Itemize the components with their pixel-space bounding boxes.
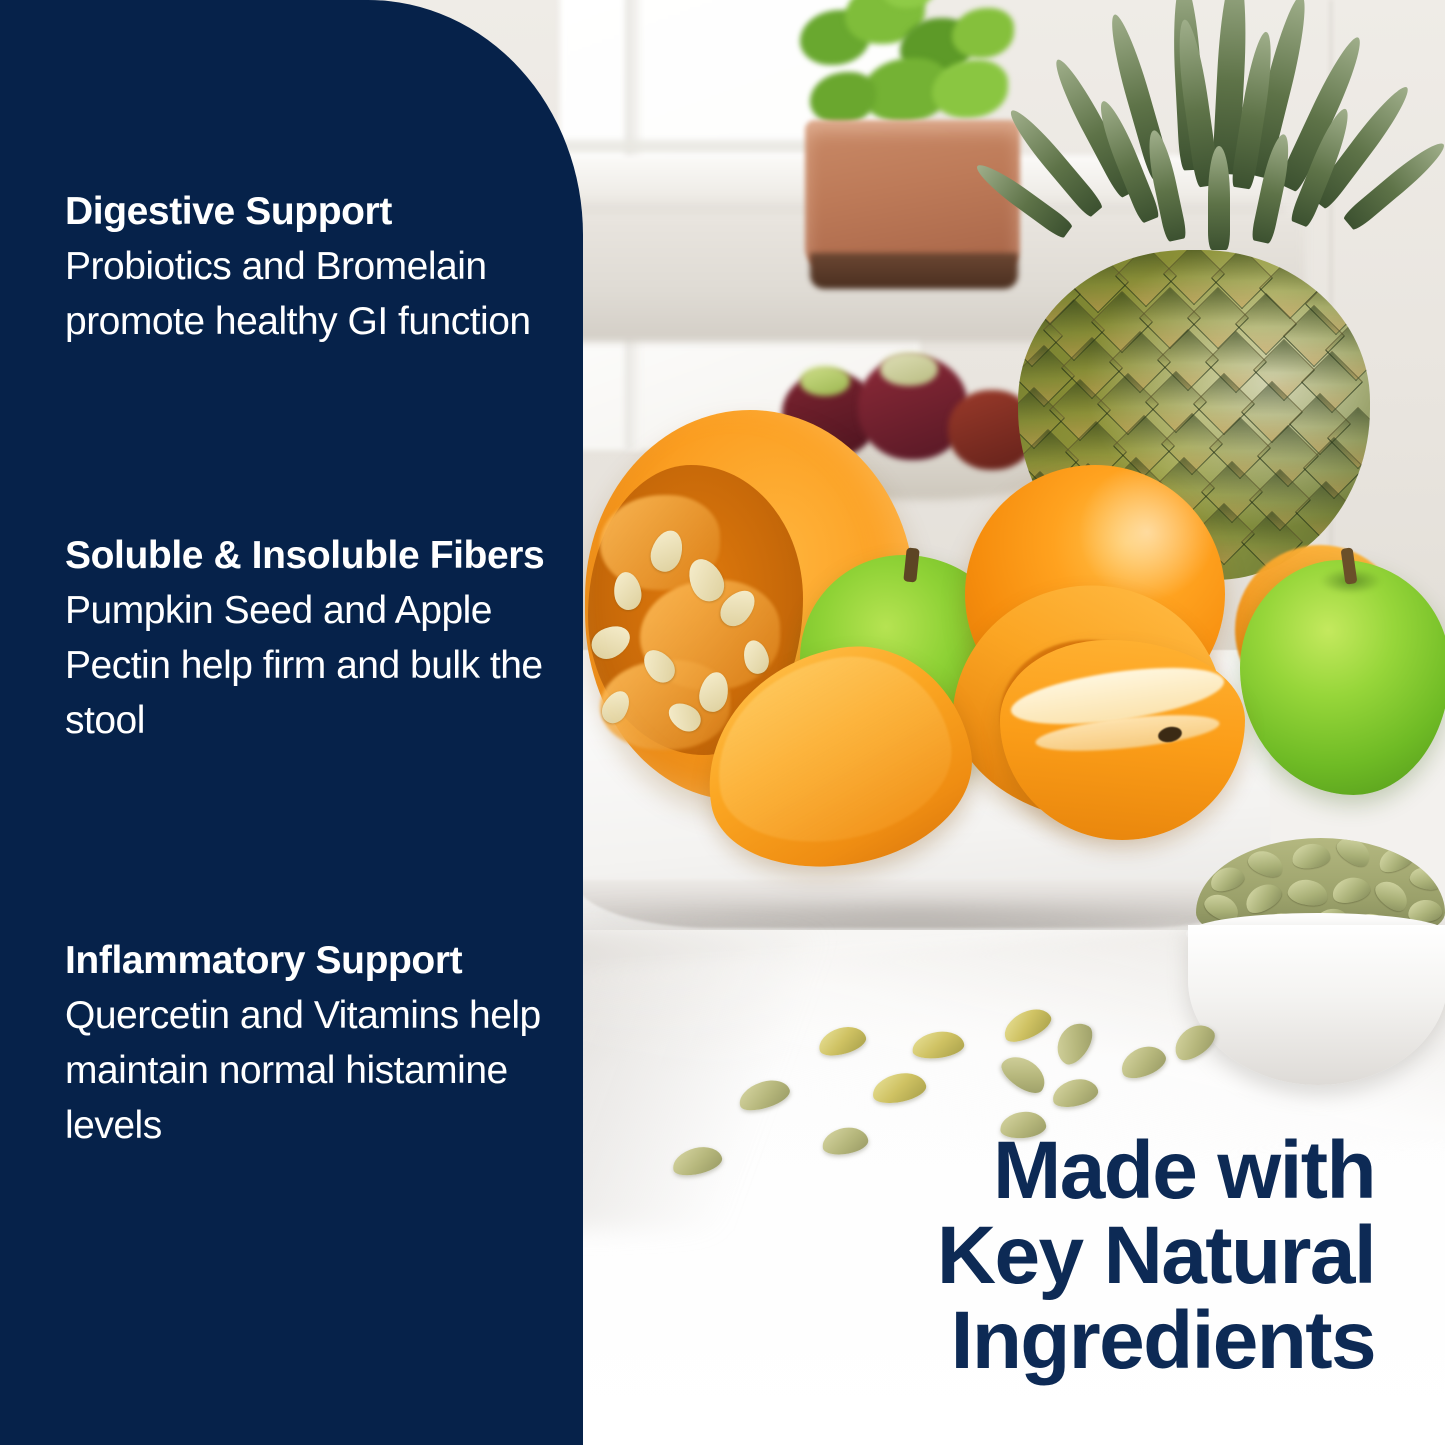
benefit-block-inflammatory-support: Inflammatory Support Quercetin and Vitam… (65, 935, 565, 1153)
benefit-block-digestive-support: Digestive Support Probiotics and Bromela… (65, 186, 565, 349)
pot-saucer (810, 253, 1018, 289)
benefit-body: Quercetin and Vitamins help maintain nor… (65, 988, 565, 1153)
benefit-body: Pumpkin Seed and Apple Pectin help firm … (65, 583, 565, 748)
benefits-list: Digestive Support Probiotics and Bromela… (65, 0, 565, 1445)
headline-line-2: Key Natural (675, 1213, 1375, 1298)
terracotta-pot (805, 120, 1020, 270)
benefit-block-soluble-insoluble-fibers: Soluble & Insoluble Fibers Pumpkin Seed … (65, 530, 565, 748)
benefits-panel: Digestive Support Probiotics and Bromela… (0, 0, 583, 1445)
infographic-canvas: Digestive Support Probiotics and Bromela… (0, 0, 1445, 1445)
headline: Made with Key Natural Ingredients (675, 1128, 1375, 1383)
benefit-title: Soluble & Insoluble Fibers (65, 530, 565, 581)
benefit-title: Inflammatory Support (65, 935, 565, 986)
headline-line-1: Made with (675, 1128, 1375, 1213)
benefit-body: Probiotics and Bromelain promote healthy… (65, 239, 565, 349)
benefit-title: Digestive Support (65, 186, 565, 237)
headline-line-3: Ingredients (675, 1298, 1375, 1383)
